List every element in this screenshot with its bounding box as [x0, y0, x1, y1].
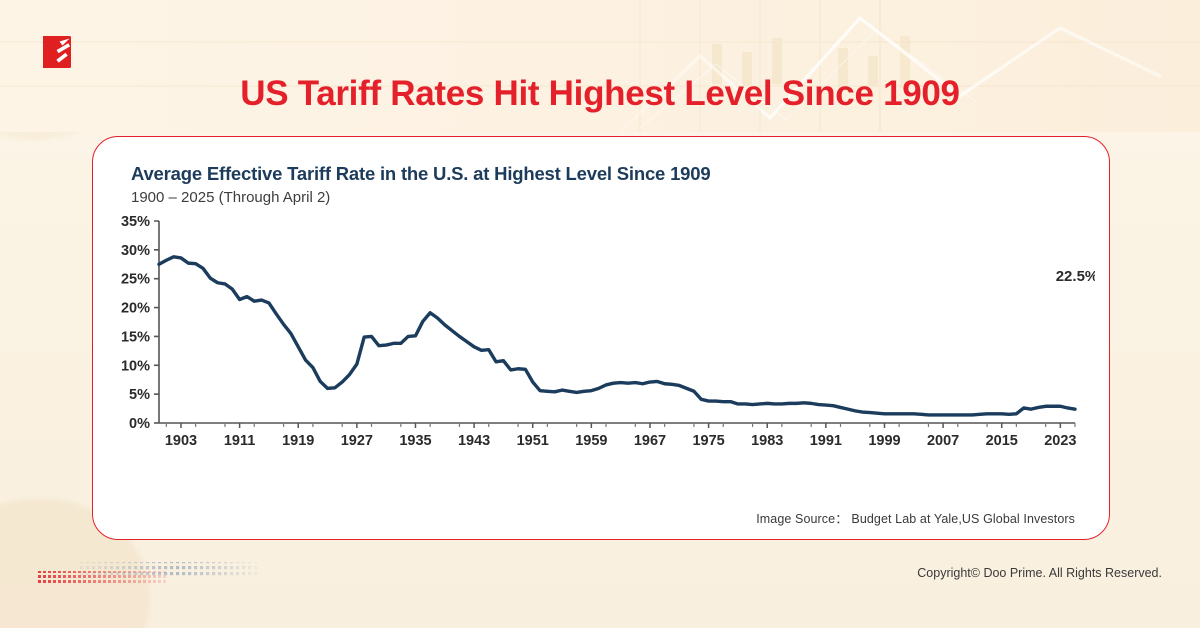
image-source-note: Image Source： Budget Lab at Yale,US Glob…	[756, 508, 1075, 527]
svg-text:1919: 1919	[282, 433, 314, 449]
svg-text:30%: 30%	[121, 243, 150, 259]
chart-title: Average Effective Tariff Rate in the U.S…	[131, 163, 1087, 185]
svg-text:1975: 1975	[692, 433, 724, 449]
chart-card: Average Effective Tariff Rate in the U.S…	[92, 136, 1110, 540]
svg-text:1999: 1999	[868, 433, 900, 449]
svg-text:1927: 1927	[341, 433, 373, 449]
doo-prime-logo-icon[interactable]	[38, 32, 76, 72]
svg-text:10%: 10%	[121, 358, 150, 374]
svg-text:1959: 1959	[575, 433, 607, 449]
svg-text:1935: 1935	[399, 433, 431, 449]
copyright-text: Copyright© Doo Prime. All Rights Reserve…	[917, 566, 1162, 580]
svg-text:1983: 1983	[751, 433, 783, 449]
svg-text:1903: 1903	[165, 433, 197, 449]
svg-text:15%: 15%	[121, 329, 150, 345]
svg-text:1967: 1967	[634, 433, 666, 449]
halftone-dots-decoration	[38, 560, 258, 586]
svg-text:1951: 1951	[517, 433, 549, 449]
svg-text:2007: 2007	[927, 433, 959, 449]
chart-subtitle: 1900 – 2025 (Through April 2)	[131, 188, 1087, 208]
svg-text:0%: 0%	[129, 416, 150, 432]
svg-text:20%: 20%	[121, 301, 150, 317]
svg-text:25%: 25%	[121, 272, 150, 288]
infographic-page: US Tariff Rates Hit Highest Level Since …	[0, 0, 1200, 628]
svg-text:1991: 1991	[810, 433, 842, 449]
tariff-rate-line-chart: 0%5%10%15%20%25%30%35%190319111919192719…	[109, 213, 1095, 463]
svg-text:1943: 1943	[458, 433, 490, 449]
svg-text:2015: 2015	[986, 433, 1018, 449]
svg-text:2023: 2023	[1044, 433, 1076, 449]
svg-text:1911: 1911	[224, 433, 255, 449]
svg-text:5%: 5%	[129, 387, 150, 403]
svg-text:35%: 35%	[121, 214, 150, 230]
svg-text:22.5%: 22.5%	[1056, 268, 1095, 285]
page-headline: US Tariff Rates Hit Highest Level Since …	[0, 72, 1200, 116]
